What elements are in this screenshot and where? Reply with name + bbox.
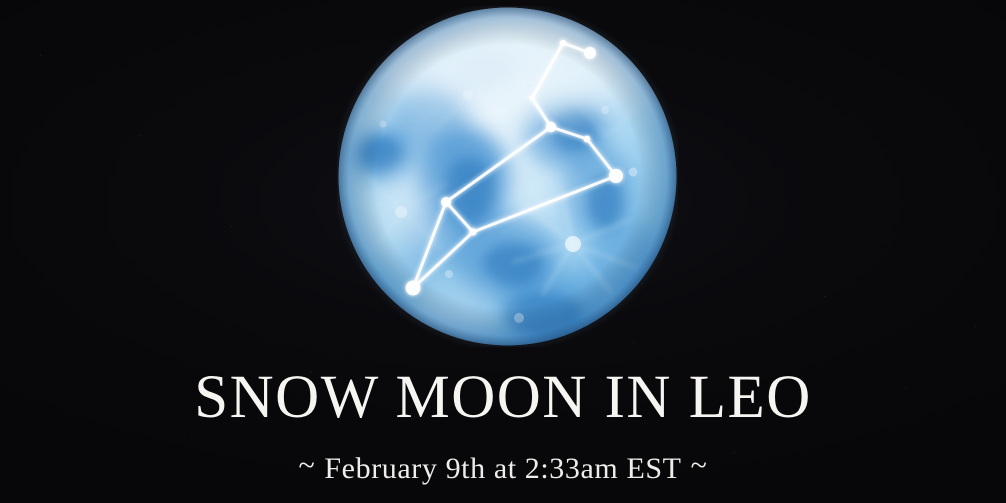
ornament-right: ~ <box>682 448 717 484</box>
star-zeta-leonis <box>529 95 534 100</box>
star-mu-leonis <box>584 47 596 59</box>
ornament-left: ~ <box>290 448 325 484</box>
page-title: SNOW MOON IN LEO <box>0 365 1006 431</box>
star-theta-leonis <box>469 228 476 235</box>
moon-svg <box>337 6 678 347</box>
star-alpha-leonis-regulus <box>406 281 421 296</box>
moon-disc <box>337 6 678 347</box>
star-gamma-leonis <box>546 122 556 132</box>
star-eta-leonis <box>441 197 451 207</box>
star-epsilon-leonis <box>560 40 566 46</box>
poster-canvas: SNOW MOON IN LEO ~February 9th at 2:33am… <box>0 0 1006 503</box>
star-beta-leonis-denebola <box>609 169 623 183</box>
moon-graphic <box>337 6 678 347</box>
event-datetime: ~February 9th at 2:33am EST~ <box>0 451 1006 487</box>
moon-limb-shading <box>339 8 677 346</box>
event-datetime-text: February 9th at 2:33am EST <box>324 452 681 485</box>
star-delta-leonis <box>584 136 591 143</box>
